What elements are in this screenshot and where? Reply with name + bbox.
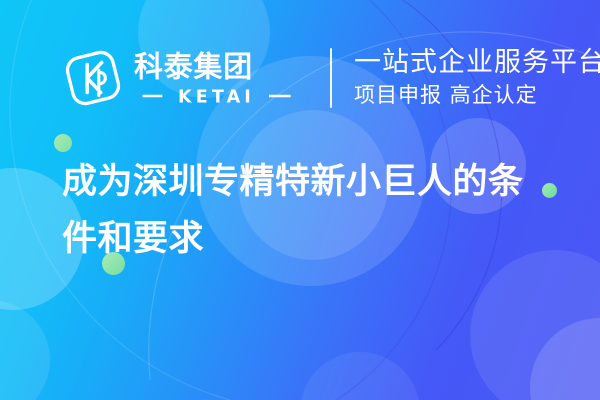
- decor-circle-right-corner: [530, 318, 600, 400]
- decor-circle-right-low: [470, 250, 600, 400]
- brand-name-en-text: KETAI: [178, 88, 255, 106]
- header-divider: [330, 48, 332, 108]
- decor-circle-left-lower: [0, 300, 50, 400]
- brand-name-en: KETAI: [134, 86, 304, 106]
- tagline-main: 一站式企业服务平台: [354, 47, 600, 79]
- promo-banner: 科泰集团 KETAI 一站式企业服务平台 项目申报 高企认定 成为深圳专精特新小…: [0, 0, 600, 400]
- tagline-block: 一站式企业服务平台 项目申报 高企认定: [354, 47, 600, 109]
- ketai-logo-icon: [62, 47, 124, 109]
- page-title: 成为深圳专精特新小巨人的条件和要求: [62, 154, 548, 268]
- decor-circle-bottom-mid: [300, 352, 420, 400]
- brand-name-cn: 科泰集团: [134, 50, 304, 84]
- brand-name-cn-text: 科泰集团: [134, 50, 253, 83]
- accent-dot-upper-left: [54, 134, 72, 152]
- brand-wordmark: 科泰集团 KETAI: [134, 50, 304, 106]
- tagline-sub: 项目申报 高企认定: [354, 82, 600, 109]
- banner-header: 科泰集团 KETAI 一站式企业服务平台 项目申报 高企认定: [62, 40, 600, 116]
